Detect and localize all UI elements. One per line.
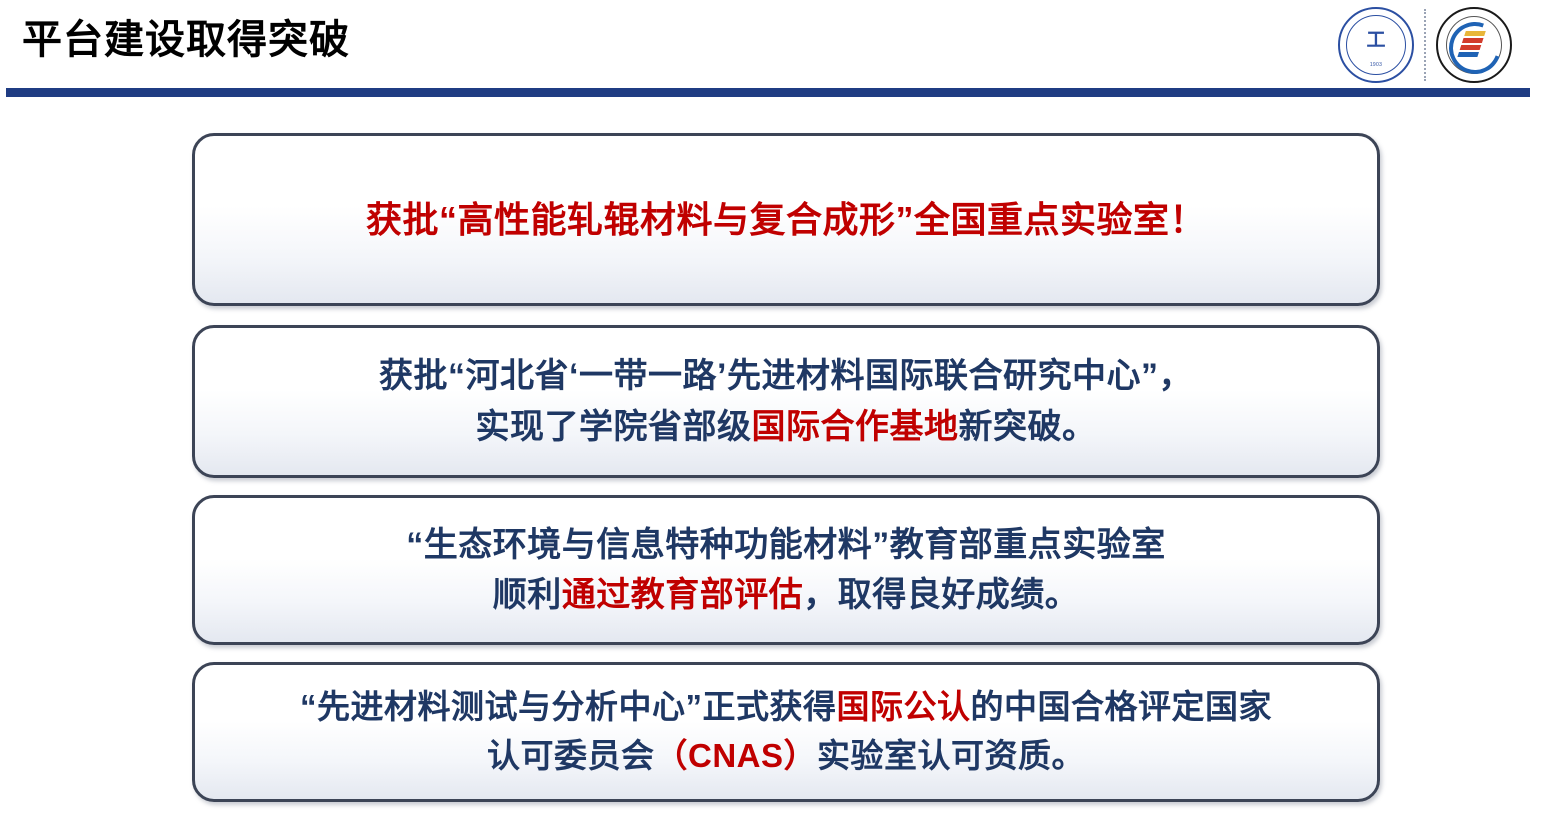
highlighted-text: 国际公认 [837,688,971,725]
body-text: 实现了学院省部级 [476,408,752,446]
highlighted-text: 国际合作基地 [752,408,959,446]
body-text: “生态环境与信息特种功能材料”教育部重点实验室 [406,526,1166,564]
callout-line: “先进材料测试与分析中心”正式获得国际公认的中国合格评定国家 [300,683,1272,732]
callout-box-4: “先进材料测试与分析中心”正式获得国际公认的中国合格评定国家认可委员会（CNAS… [192,662,1380,802]
callout-box-1: 获批“高性能轧辊材料与复合成形”全国重点实验室！ [192,133,1380,306]
callout-line: 顺利通过教育部评估，取得良好成绩。 [493,570,1080,620]
body-text: 的中国合格评定国家 [971,688,1273,725]
highlighted-text: 获批“高性能轧辊材料与复合成形”全国重点实验室！ [366,199,1206,240]
callout-line: 获批“河北省‘一带一路’先进材料国际联合研究中心”， [379,351,1193,401]
body-text: “先进材料测试与分析中心”正式获得 [300,688,837,725]
highlighted-text: 通过教育部评估 [562,576,804,614]
body-text: 获批“河北省‘一带一路’先进材料国际联合研究中心”， [379,357,1193,395]
body-text: 新突破。 [959,408,1097,446]
body-text: 认可委员会 [487,737,655,774]
callout-line: 获批“高性能轧辊材料与复合成形”全国重点实验室！ [366,193,1206,246]
content-area: 获批“高性能轧辊材料与复合成形”全国重点实验室！ 获批“河北省‘一带一路’先进材… [0,0,1556,816]
callout-line: 认可委员会（CNAS）实验室认可资质。 [487,732,1085,781]
body-text: 顺利 [493,576,562,614]
callout-line: “生态环境与信息特种功能材料”教育部重点实验室 [406,520,1166,570]
callout-box-2: 获批“河北省‘一带一路’先进材料国际联合研究中心”，实现了学院省部级国际合作基地… [192,325,1380,478]
callout-box-3: “生态环境与信息特种功能材料”教育部重点实验室顺利通过教育部评估，取得良好成绩。 [192,495,1380,645]
highlighted-text: （CNAS） [654,737,817,774]
body-text: ，取得良好成绩。 [803,576,1079,614]
body-text: 实验室认可资质。 [817,737,1085,774]
callout-line: 实现了学院省部级国际合作基地新突破。 [476,402,1097,452]
